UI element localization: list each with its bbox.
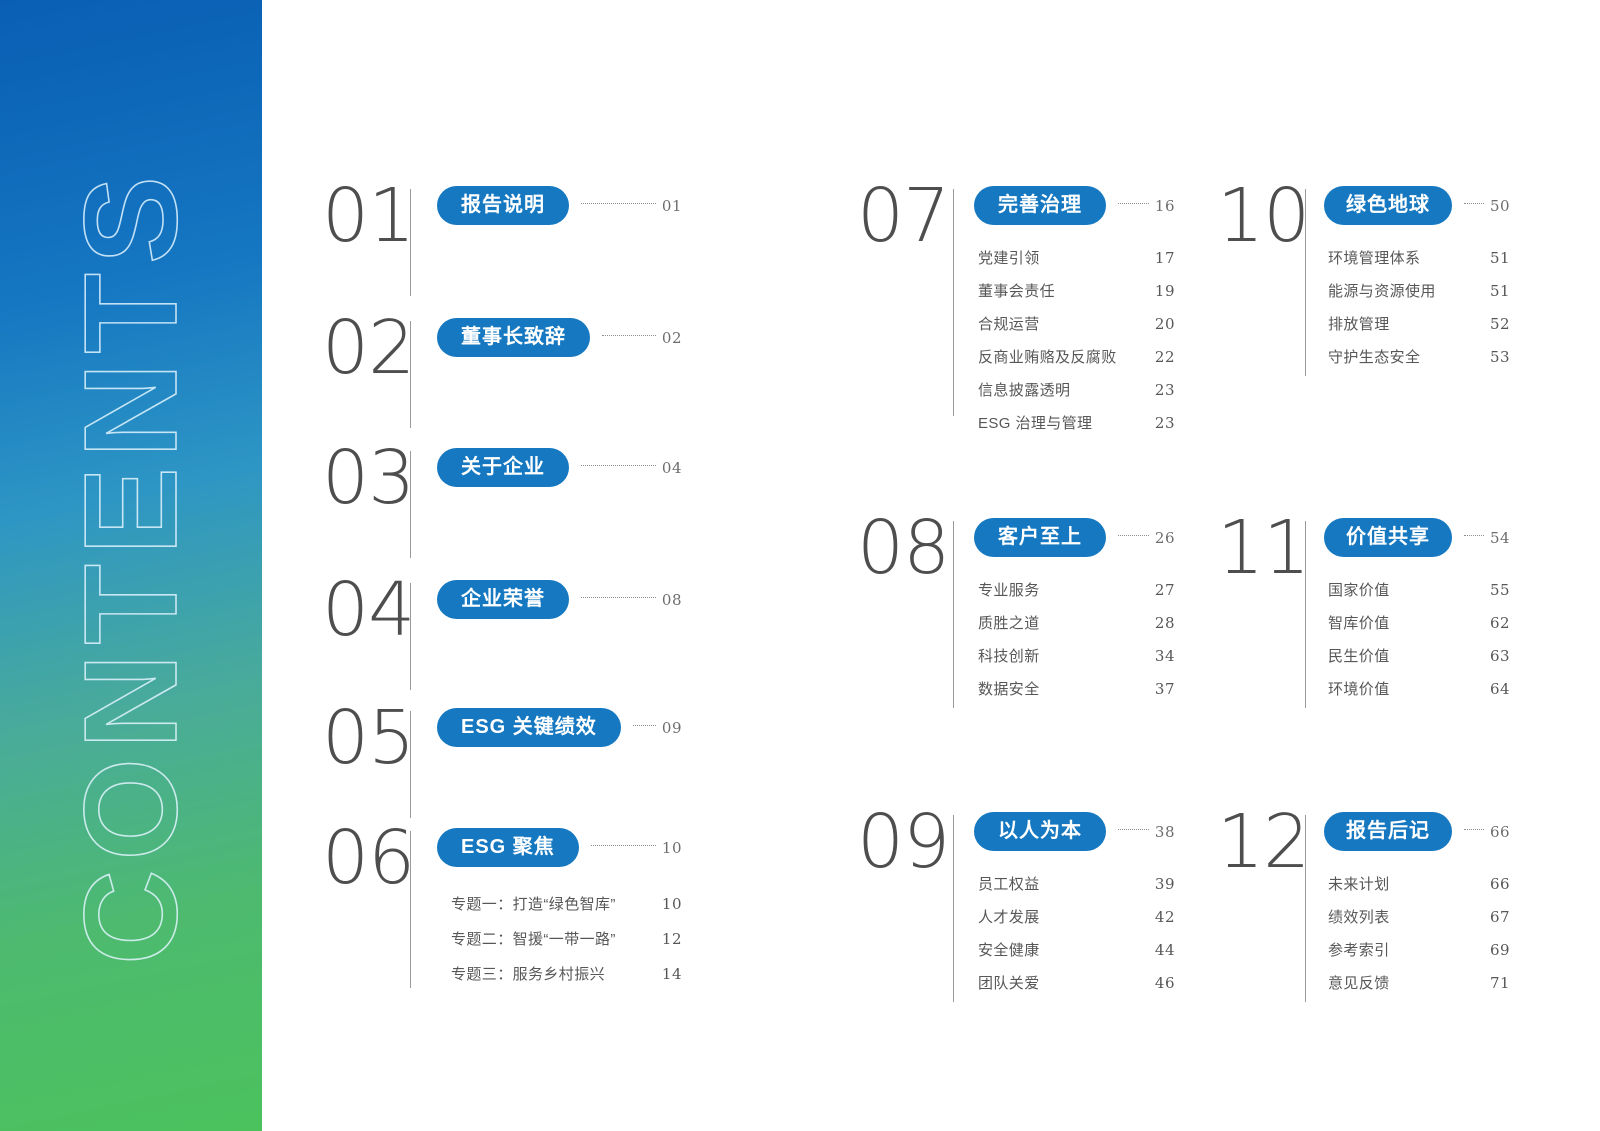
toc-entry-number: 03 — [322, 448, 410, 508]
toc-entry[interactable]: 04 企业荣誉 08 — [322, 580, 682, 690]
toc-subitem-page: 23 — [1155, 414, 1175, 432]
leader-dots — [1118, 202, 1149, 204]
toc-entry-divider — [953, 521, 954, 708]
toc-subitem-list: 环境管理体系 51 能源与资源使用 51 排放管理 52 — [1324, 247, 1510, 367]
toc-subitem-label: 董事会责任 — [978, 280, 1055, 301]
table-of-contents: 01 报告说明 01 02 董事长致辞 02 03 — [262, 0, 1600, 1131]
toc-entry-body: 客户至上 26 专业服务 27 质胜之道 28 — [974, 518, 1175, 711]
toc-subitem[interactable]: 绩效列表 67 — [1328, 906, 1510, 927]
toc-entry-page: 50 — [1490, 197, 1510, 215]
toc-subitem-label: 专题三：服务乡村振兴 — [451, 963, 605, 984]
leader-dots — [1118, 828, 1149, 830]
toc-entry-page: 54 — [1490, 529, 1510, 547]
toc-subitem-label: 质胜之道 — [978, 612, 1040, 633]
toc-subitem-label: 守护生态安全 — [1328, 346, 1420, 367]
toc-subitem-label: 合规运营 — [978, 313, 1040, 334]
toc-entry[interactable]: 08 客户至上 26 专业服务 27 质胜之道 — [857, 518, 1175, 708]
toc-subitem[interactable]: 反商业贿赂及反腐败 22 — [978, 346, 1175, 367]
toc-entry-head: 完善治理 16 — [974, 186, 1175, 225]
toc-entry-divider — [953, 815, 954, 1002]
toc-entry-number: 10 — [1217, 186, 1305, 246]
toc-entry[interactable]: 03 关于企业 04 — [322, 448, 682, 558]
toc-subitem-page: 63 — [1490, 647, 1510, 665]
toc-subitem-list: 未来计划 66 绩效列表 67 参考索引 69 — [1324, 873, 1510, 993]
toc-entry-body: 关于企业 04 — [437, 448, 682, 487]
toc-subitem-page: 37 — [1155, 680, 1175, 698]
toc-subitem-page: 34 — [1155, 647, 1175, 665]
toc-subitem[interactable]: 合规运营 20 — [978, 313, 1175, 334]
toc-entry-body: 价值共享 54 国家价值 55 智库价值 62 — [1324, 518, 1510, 711]
toc-subitem-page: 51 — [1490, 249, 1510, 267]
toc-entry-page: 01 — [662, 197, 682, 215]
leader-dots — [581, 464, 656, 466]
toc-entry[interactable]: 09 以人为本 38 员工权益 39 人才发展 — [857, 812, 1175, 1002]
toc-subitem-label: 信息披露透明 — [978, 379, 1070, 400]
toc-subitem[interactable]: 环境管理体系 51 — [1328, 247, 1510, 268]
toc-subitem-page: 53 — [1490, 348, 1510, 366]
leader-dots — [581, 596, 656, 598]
toc-entry-title[interactable]: 绿色地球 — [1324, 186, 1452, 225]
toc-entry[interactable]: 12 报告后记 66 未来计划 66 绩效列表 — [1217, 812, 1502, 1002]
toc-subitem-list: 党建引领 17 董事会责任 19 合规运营 20 — [974, 247, 1175, 433]
toc-subitem-label: 智库价值 — [1328, 612, 1390, 633]
toc-entry-body: 报告后记 66 未来计划 66 绩效列表 67 — [1324, 812, 1510, 1005]
toc-entry-head: ESG 聚焦 10 — [437, 828, 682, 867]
toc-entry-number: 06 — [322, 828, 410, 888]
toc-entry-page: 38 — [1155, 823, 1175, 841]
toc-subitem-list: 员工权益 39 人才发展 42 安全健康 44 — [974, 873, 1175, 993]
toc-subitem[interactable]: 意见反馈 71 — [1328, 972, 1510, 993]
leader-dots — [581, 202, 656, 204]
toc-subitem[interactable]: 排放管理 52 — [1328, 313, 1510, 334]
toc-entry-title[interactable]: 以人为本 — [974, 812, 1106, 851]
toc-subitem-label: 国家价值 — [1328, 579, 1390, 600]
toc-entry-title[interactable]: 企业荣誉 — [437, 580, 569, 619]
contents-wordmark: CONTENTS — [65, 167, 197, 965]
toc-entry-number: 02 — [322, 318, 410, 378]
toc-entry-head: 关于企业 04 — [437, 448, 682, 487]
toc-entry-divider — [410, 189, 411, 296]
toc-subitem-label: 党建引领 — [978, 247, 1040, 268]
toc-subitem-page: 52 — [1490, 315, 1510, 333]
toc-subitem-page: 19 — [1155, 282, 1175, 300]
toc-subitem-label: ESG 治理与管理 — [978, 412, 1092, 433]
toc-entry-title[interactable]: 报告说明 — [437, 186, 569, 225]
toc-entry[interactable]: 10 绿色地球 50 环境管理体系 51 能源与资源使用 — [1217, 186, 1502, 376]
toc-subitem-label: 安全健康 — [978, 939, 1040, 960]
toc-subitem-page: 71 — [1490, 974, 1510, 992]
contents-wordmark-wrapper: CONTENTS — [65, 167, 197, 965]
leader-dots — [591, 844, 656, 846]
toc-subitem[interactable]: 员工权益 39 — [978, 873, 1175, 894]
toc-subitem-page: 55 — [1490, 581, 1510, 599]
toc-entry-head: 客户至上 26 — [974, 518, 1175, 557]
toc-entry-body: 以人为本 38 员工权益 39 人才发展 42 — [974, 812, 1175, 1005]
toc-entry-title[interactable]: 报告后记 — [1324, 812, 1452, 851]
toc-entry-body: 董事长致辞 02 — [437, 318, 682, 357]
toc-subitem[interactable]: 环境价值 64 — [1328, 678, 1510, 699]
toc-subitem-label: 人才发展 — [978, 906, 1040, 927]
toc-entry[interactable]: 11 价值共享 54 国家价值 55 智库价值 — [1217, 518, 1502, 708]
toc-subitem-label: 环境价值 — [1328, 678, 1390, 699]
toc-entry-title[interactable]: ESG 聚焦 — [437, 828, 579, 867]
toc-entry-number: 11 — [1217, 518, 1305, 578]
toc-entry-divider — [410, 831, 411, 988]
toc-subitem-page: 27 — [1155, 581, 1175, 599]
toc-entry-number: 05 — [322, 708, 410, 768]
toc-subitem[interactable]: 人才发展 42 — [978, 906, 1175, 927]
toc-subitem-label: 员工权益 — [978, 873, 1040, 894]
toc-entry-divider — [410, 711, 411, 818]
toc-subitem-page: 23 — [1155, 381, 1175, 399]
toc-subitem-page: 67 — [1490, 908, 1510, 926]
toc-subitem-page: 51 — [1490, 282, 1510, 300]
leader-dots — [1464, 202, 1484, 204]
toc-subitem-page: 22 — [1155, 348, 1175, 366]
toc-entry-body: 报告说明 01 — [437, 186, 682, 225]
toc-subitem[interactable]: ESG 治理与管理 23 — [978, 412, 1175, 433]
toc-subitem[interactable]: 能源与资源使用 51 — [1328, 280, 1510, 301]
toc-subitem-page: 64 — [1490, 680, 1510, 698]
toc-entry-page: 26 — [1155, 529, 1175, 547]
toc-entry[interactable]: 06 ESG 聚焦 10 专题一：打造“绿色智库” 10 专题二：智援“一带一路… — [322, 828, 682, 988]
toc-entry-divider — [410, 583, 411, 690]
toc-entry-head: 报告说明 01 — [437, 186, 682, 225]
toc-entry[interactable]: 05 ESG 关键绩效 09 — [322, 708, 682, 818]
toc-subitem[interactable]: 守护生态安全 53 — [1328, 346, 1510, 367]
toc-subitem-page: 10 — [662, 895, 682, 913]
toc-subitem-label: 环境管理体系 — [1328, 247, 1420, 268]
toc-entry-body: 绿色地球 50 环境管理体系 51 能源与资源使用 51 — [1324, 186, 1510, 379]
toc-entry-number: 01 — [322, 186, 410, 246]
toc-subitem[interactable]: 专题二：智援“一带一路” 12 — [451, 928, 682, 949]
toc-entry-divider — [1305, 189, 1306, 376]
leader-dots — [633, 724, 656, 726]
toc-entry-title[interactable]: 完善治理 — [974, 186, 1106, 225]
leader-dots — [602, 334, 656, 336]
toc-subitem-page: 28 — [1155, 614, 1175, 632]
toc-entry-divider — [1305, 521, 1306, 708]
toc-subitem-list: 专业服务 27 质胜之道 28 科技创新 34 — [974, 579, 1175, 699]
toc-entry-head: 绿色地球 50 — [1324, 186, 1510, 225]
toc-subitem[interactable]: 参考索引 69 — [1328, 939, 1510, 960]
toc-subitem-label: 专题二：智援“一带一路” — [451, 928, 616, 949]
toc-entry-title[interactable]: 关于企业 — [437, 448, 569, 487]
toc-entry-title[interactable]: 价值共享 — [1324, 518, 1452, 557]
toc-subitem[interactable]: 质胜之道 28 — [978, 612, 1175, 633]
toc-entry-number: 07 — [857, 186, 953, 246]
toc-subitem-label: 未来计划 — [1328, 873, 1390, 894]
toc-subitem-page: 42 — [1155, 908, 1175, 926]
toc-entry-body: 完善治理 16 党建引领 17 董事会责任 19 — [974, 186, 1175, 445]
toc-entry-page: 02 — [662, 329, 682, 347]
toc-subitem-label: 参考索引 — [1328, 939, 1390, 960]
toc-entry[interactable]: 02 董事长致辞 02 — [322, 318, 682, 428]
toc-entry-number: 08 — [857, 518, 953, 578]
leader-dots — [1118, 534, 1149, 536]
toc-entry-number: 04 — [322, 580, 410, 640]
toc-subitem[interactable]: 未来计划 66 — [1328, 873, 1510, 894]
toc-subitem-label: 专题一：打造“绿色智库” — [451, 893, 616, 914]
toc-subitem[interactable]: 董事会责任 19 — [978, 280, 1175, 301]
toc-subitem-page: 39 — [1155, 875, 1175, 893]
toc-entry-page: 08 — [662, 591, 682, 609]
toc-subitem-page: 14 — [662, 965, 682, 983]
toc-entry-page: 09 — [662, 719, 682, 737]
toc-entry-page: 66 — [1490, 823, 1510, 841]
toc-subitem-page: 46 — [1155, 974, 1175, 992]
toc-subitem[interactable]: 团队关爱 46 — [978, 972, 1175, 993]
toc-subitem-label: 绩效列表 — [1328, 906, 1390, 927]
toc-subitem-list: 国家价值 55 智库价值 62 民生价值 63 — [1324, 579, 1510, 699]
toc-subitem[interactable]: 科技创新 34 — [978, 645, 1175, 666]
toc-subitem-page: 62 — [1490, 614, 1510, 632]
toc-entry-divider — [410, 321, 411, 428]
toc-entry-title[interactable]: 董事长致辞 — [437, 318, 590, 357]
toc-subitem-label: 能源与资源使用 — [1328, 280, 1436, 301]
toc-entry-body: ESG 聚焦 10 专题一：打造“绿色智库” 10 专题二：智援“一带一路” 1… — [437, 828, 682, 998]
toc-subitem-page: 44 — [1155, 941, 1175, 959]
toc-entry-divider — [953, 189, 954, 416]
toc-entry-divider — [410, 451, 411, 558]
toc-subitem-page: 69 — [1490, 941, 1510, 959]
toc-entry-head: ESG 关键绩效 09 — [437, 708, 682, 747]
toc-subitem-label: 科技创新 — [978, 645, 1040, 666]
toc-entry-number: 09 — [857, 812, 953, 872]
toc-entry-head: 董事长致辞 02 — [437, 318, 682, 357]
toc-subitem-label: 专业服务 — [978, 579, 1040, 600]
toc-subitem[interactable]: 国家价值 55 — [1328, 579, 1510, 600]
toc-subitem-label: 反商业贿赂及反腐败 — [978, 346, 1117, 367]
toc-subitem[interactable]: 信息披露透明 23 — [978, 379, 1175, 400]
toc-subitem-page: 20 — [1155, 315, 1175, 333]
leader-dots — [1464, 828, 1484, 830]
toc-subitem[interactable]: 数据安全 37 — [978, 678, 1175, 699]
leader-dots — [1464, 534, 1484, 536]
toc-entry[interactable]: 07 完善治理 16 党建引领 17 董事会责任 — [857, 186, 1175, 416]
toc-subitem-label: 数据安全 — [978, 678, 1040, 699]
toc-subitem[interactable]: 民生价值 63 — [1328, 645, 1510, 666]
toc-entry-number: 12 — [1217, 812, 1305, 872]
toc-subitem[interactable]: 专题一：打造“绿色智库” 10 — [451, 893, 682, 914]
toc-entry-head: 以人为本 38 — [974, 812, 1175, 851]
toc-entry[interactable]: 01 报告说明 01 — [322, 186, 682, 296]
toc-subitem[interactable]: 安全健康 44 — [978, 939, 1175, 960]
toc-subitem-page: 17 — [1155, 249, 1175, 267]
toc-entry-page: 10 — [662, 839, 682, 857]
toc-entry-title[interactable]: ESG 关键绩效 — [437, 708, 621, 747]
toc-subitem-label: 排放管理 — [1328, 313, 1390, 334]
contents-sidebar: CONTENTS — [0, 0, 262, 1131]
toc-entry-head: 价值共享 54 — [1324, 518, 1510, 557]
toc-entry-page: 04 — [662, 459, 682, 477]
toc-subitem-page: 66 — [1490, 875, 1510, 893]
toc-entry-divider — [1305, 815, 1306, 1002]
toc-subitem-label: 民生价值 — [1328, 645, 1390, 666]
toc-subitem-list: 专题一：打造“绿色智库” 10 专题二：智援“一带一路” 12 专题三：服务乡村… — [437, 893, 682, 984]
toc-entry-title[interactable]: 客户至上 — [974, 518, 1106, 557]
toc-entry-head: 企业荣誉 08 — [437, 580, 682, 619]
toc-subitem-label: 团队关爱 — [978, 972, 1040, 993]
toc-subitem[interactable]: 党建引领 17 — [978, 247, 1175, 268]
toc-entry-head: 报告后记 66 — [1324, 812, 1510, 851]
toc-subitem[interactable]: 专业服务 27 — [978, 579, 1175, 600]
toc-subitem-label: 意见反馈 — [1328, 972, 1390, 993]
toc-subitem[interactable]: 智库价值 62 — [1328, 612, 1510, 633]
toc-subitem[interactable]: 专题三：服务乡村振兴 14 — [451, 963, 682, 984]
toc-entry-body: ESG 关键绩效 09 — [437, 708, 682, 747]
toc-subitem-page: 12 — [662, 930, 682, 948]
toc-entry-page: 16 — [1155, 197, 1175, 215]
toc-entry-body: 企业荣誉 08 — [437, 580, 682, 619]
